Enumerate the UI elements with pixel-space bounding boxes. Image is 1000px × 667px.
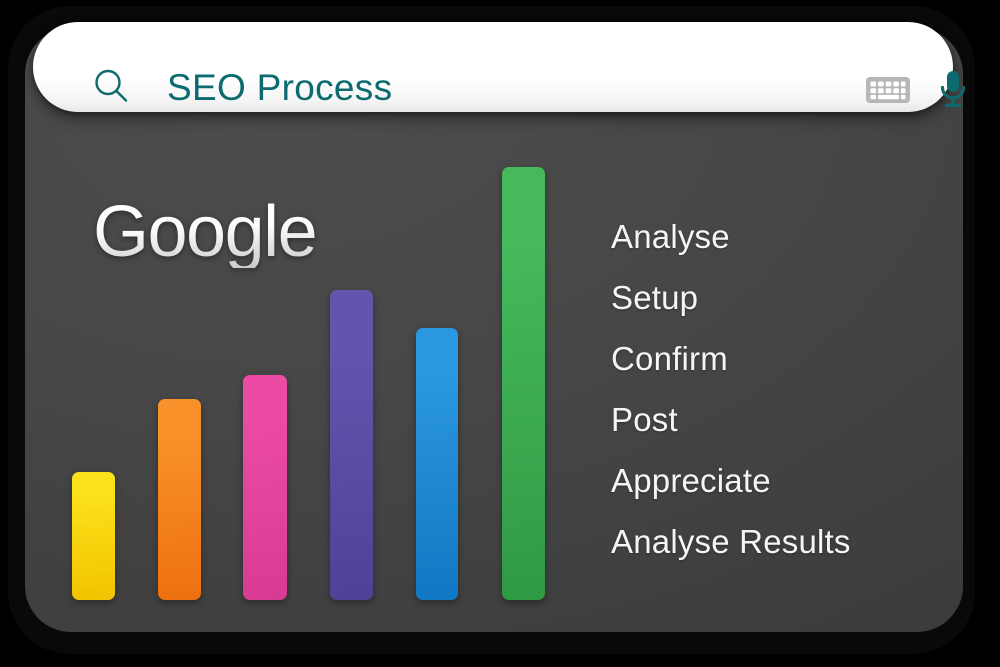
- process-step-item: Setup: [611, 267, 941, 328]
- process-step-item: Post: [611, 389, 941, 450]
- process-step-item: Analyse: [611, 206, 941, 267]
- google-wordmark: Google: [93, 196, 316, 268]
- screenshot-stage: Google AnalyseSetupConfirmPostAppreciate…: [0, 0, 1000, 667]
- search-icon[interactable]: [91, 66, 131, 106]
- microphone-icon[interactable]: [933, 67, 973, 111]
- process-step-item: Analyse Results: [611, 511, 941, 572]
- chart-bar: [502, 167, 545, 600]
- search-input[interactable]: SEO Process: [167, 67, 392, 109]
- chart-bar: [243, 375, 287, 600]
- chart-bar: [72, 472, 115, 600]
- process-step-list: AnalyseSetupConfirmPostAppreciateAnalyse…: [611, 206, 941, 572]
- keyboard-icon[interactable]: [864, 72, 912, 108]
- chart-bar: [330, 290, 373, 600]
- chart-bar: [158, 399, 201, 600]
- chart-bar: [416, 328, 458, 600]
- process-step-item: Appreciate: [611, 450, 941, 511]
- process-step-item: Confirm: [611, 328, 941, 389]
- search-results-card: Google AnalyseSetupConfirmPostAppreciate…: [25, 28, 963, 632]
- search-bar[interactable]: SEO Process: [33, 22, 953, 112]
